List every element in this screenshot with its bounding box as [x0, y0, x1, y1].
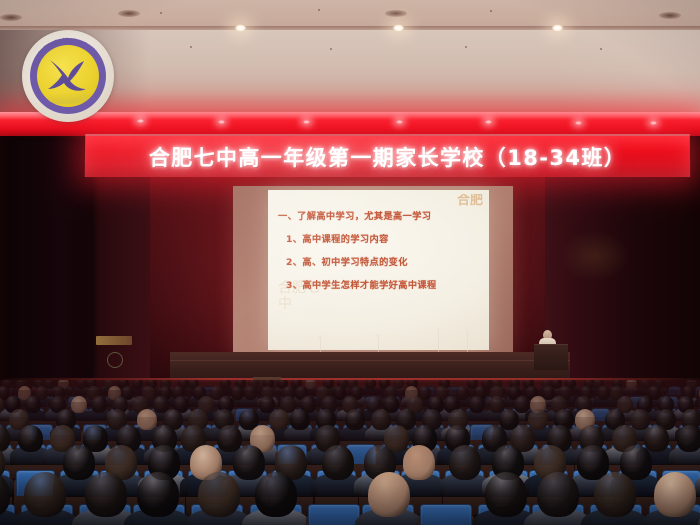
audience-member-head — [345, 409, 365, 431]
stage-wall-sign — [96, 336, 132, 345]
auditorium-seat — [668, 386, 681, 395]
audience-member-head — [456, 386, 469, 400]
audience-member-head — [137, 409, 157, 431]
audience-member-head — [24, 472, 66, 517]
audience-member-head — [469, 396, 485, 413]
slide-heading: 一、了解高中学习，尤其是高一学习 — [278, 208, 481, 222]
strip-light-dot — [485, 120, 492, 124]
microphone-stand — [320, 338, 321, 352]
ceiling-downlight — [392, 24, 405, 32]
ceiling-fixture-icon — [118, 10, 140, 17]
ceiling-speck — [190, 46, 192, 48]
ceiling-downlight — [234, 24, 247, 32]
strip-light-dot — [137, 119, 144, 123]
slide-item-2: 2、高、初中学习特点的变化 — [286, 254, 481, 268]
banner-title: 合肥七中高一年级第一期家长学校（18-34班） — [149, 142, 627, 172]
audience-member-head — [630, 409, 650, 431]
ceiling-downlight — [551, 24, 564, 32]
auditorium-seat — [420, 504, 472, 525]
auditorium-photo: 合肥七中高一年级第一期家长学校（18-34班） 合肥 合肥七中 一、了解高中学习… — [0, 0, 700, 525]
audience-member-head — [71, 396, 87, 413]
audience-member-head — [137, 472, 179, 517]
audience-crowd — [0, 380, 700, 525]
ceiling-speck — [600, 48, 602, 50]
event-banner: 合肥七中高一年级第一期家长学校（18-34班） — [85, 134, 690, 177]
ceiling-speck — [160, 12, 162, 14]
slide-item-1: 1、高中课程的学习内容 — [286, 231, 481, 245]
audience-member-head — [368, 472, 410, 517]
stage-left-wall-panel — [8, 140, 93, 378]
projection-screen: 合肥 合肥七中 一、了解高中学习，尤其是高一学习 1、高中课程的学习内容 2、高… — [268, 190, 489, 350]
audience-member-head — [449, 445, 481, 479]
audience-member-head — [91, 396, 107, 413]
slide-content: 一、了解高中学习，尤其是高一学习 1、高中课程的学习内容 2、高、初中学习特点的… — [268, 208, 489, 300]
microphone-stand — [378, 336, 379, 352]
audience-member-head — [18, 425, 43, 452]
audience-member-head — [85, 472, 127, 517]
strip-light-dot — [303, 120, 310, 124]
audience-member-head — [233, 445, 265, 479]
audience-member-head — [403, 445, 435, 479]
audience-member-head — [626, 380, 637, 389]
audience-member-head — [594, 472, 636, 517]
audience-member-head — [654, 472, 696, 517]
strip-light-dot — [396, 120, 403, 124]
audience-member-head — [485, 472, 527, 517]
audience-member-head — [537, 472, 579, 517]
audience-member-head — [677, 425, 700, 452]
audience-member-head — [644, 425, 669, 452]
auditorium-seat — [308, 504, 360, 525]
ceiling-speck — [465, 46, 467, 48]
microphone-stand — [438, 330, 439, 352]
soffit-right-highlight — [560, 30, 700, 116]
red-strip-highlight — [0, 112, 700, 120]
stage-apron-edge — [170, 360, 570, 361]
ceiling-fixture-icon — [385, 10, 407, 17]
audience-member-head — [63, 445, 95, 479]
slide-item-3: 3、高中学生怎样才能学好高中课程 — [286, 277, 481, 291]
microphone-head-icon — [465, 330, 469, 333]
ceiling-fixture-icon — [659, 12, 681, 19]
microphone-stand — [467, 332, 468, 352]
strip-light-dot — [575, 121, 582, 125]
audience-member-head — [244, 386, 257, 400]
audience-member-head — [25, 396, 41, 413]
audience-member-head — [290, 409, 310, 431]
strip-light-dot — [650, 121, 657, 125]
wall-decoration-glow — [560, 230, 630, 282]
ceiling-speck — [330, 48, 332, 50]
audience-member-head — [528, 409, 548, 431]
audience-member-head — [322, 445, 354, 479]
strip-light-dot — [218, 120, 225, 124]
podium — [534, 344, 568, 370]
school-emblem: 合肥市第七中学 HEFEI NO.7 MIDDLE SCHOOL — [22, 30, 114, 122]
audience-member-head — [269, 409, 289, 431]
ceiling-speck — [490, 10, 492, 12]
microphone-head-icon — [318, 336, 322, 339]
ceiling-speck — [318, 9, 320, 11]
audience-member-head — [365, 380, 376, 389]
microphone-head-icon — [436, 328, 440, 331]
microphone-head-icon — [376, 334, 380, 337]
audience-member-head — [255, 472, 297, 517]
audience-member-head — [198, 472, 240, 517]
stage-wall-badge-icon — [107, 352, 123, 368]
ceiling-fixture-icon — [0, 14, 22, 21]
